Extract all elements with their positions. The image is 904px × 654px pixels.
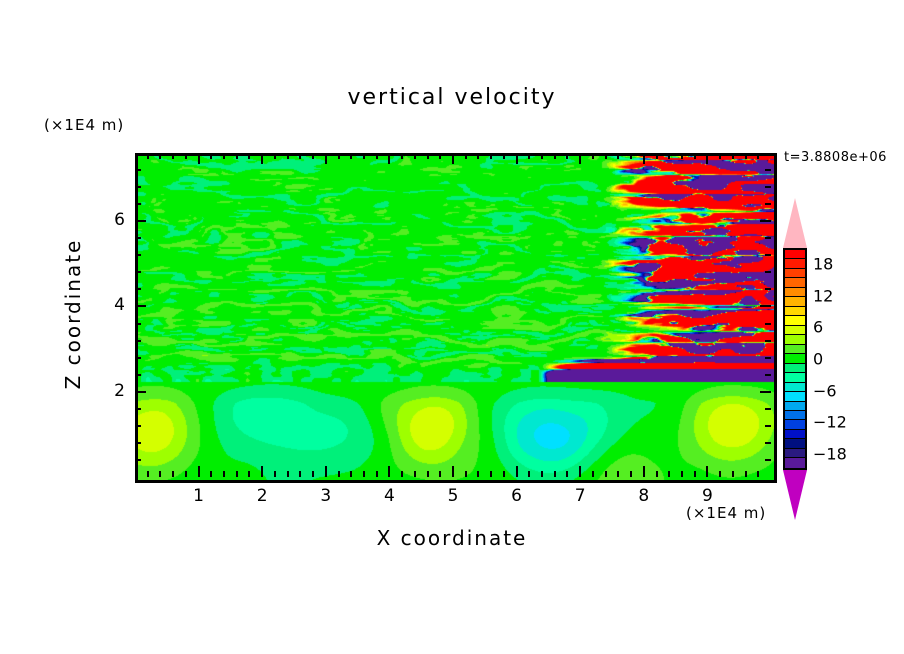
x-minor-tick-top [248, 153, 250, 159]
colorbar-band [785, 269, 805, 278]
colorbar-band [785, 345, 805, 354]
colorbar-band [785, 439, 805, 448]
x-minor-tick [757, 471, 759, 477]
x-minor-tick [147, 471, 149, 477]
x-minor-tick-top [719, 153, 721, 159]
x-minor-tick-top [376, 153, 378, 159]
x-major-tick [325, 466, 327, 477]
y-tick-label: 4 [95, 295, 125, 315]
plot-area [135, 153, 777, 483]
x-major-tick-top [325, 153, 327, 164]
x-minor-tick [159, 471, 161, 477]
colorbar-band [785, 335, 805, 344]
y-minor-tick [135, 442, 141, 444]
y-minor-tick-right [765, 425, 771, 427]
x-minor-tick-top [528, 153, 530, 159]
colorbar: 181260−6−12−18 [783, 198, 807, 520]
x-tick-label: 1 [184, 486, 214, 506]
x-minor-tick-top [656, 153, 658, 159]
x-minor-tick-top [439, 153, 441, 159]
x-minor-tick [617, 471, 619, 477]
x-tick-label: 4 [374, 486, 404, 506]
x-minor-tick [376, 471, 378, 477]
x-major-tick-top [261, 153, 263, 164]
x-minor-tick [350, 471, 352, 477]
x-minor-tick [719, 471, 721, 477]
x-minor-tick-top [541, 153, 543, 159]
x-minor-tick-top [147, 153, 149, 159]
x-minor-tick [477, 471, 479, 477]
x-minor-tick [185, 471, 187, 477]
y-minor-tick [135, 374, 141, 376]
x-minor-tick [210, 471, 212, 477]
x-major-tick-top [388, 153, 390, 164]
colorbar-tick-label: 12 [813, 286, 833, 305]
colorbar-band [785, 326, 805, 335]
x-major-tick-top [516, 153, 518, 164]
x-tick-label: 8 [629, 486, 659, 506]
x-axis-title: X coordinate [0, 526, 904, 550]
y-major-tick [135, 220, 146, 222]
x-minor-tick-top [465, 153, 467, 159]
y-minor-tick-right [765, 169, 771, 171]
x-minor-tick-top [745, 153, 747, 159]
x-minor-tick [554, 471, 556, 477]
x-minor-tick-top [172, 153, 174, 159]
colorbar-tick-label: 6 [813, 318, 823, 337]
x-minor-tick-top [668, 153, 670, 159]
x-axis-unit-label: (×1E4 m) [686, 504, 766, 522]
x-minor-tick [528, 471, 530, 477]
x-minor-tick [745, 471, 747, 477]
x-minor-tick [566, 471, 568, 477]
colorbar-band [785, 449, 805, 458]
x-major-tick [261, 466, 263, 477]
colorbar-band [785, 354, 805, 363]
x-minor-tick [681, 471, 683, 477]
y-minor-tick [135, 169, 141, 171]
colorbar-band [785, 288, 805, 297]
x-minor-tick-top [694, 153, 696, 159]
y-minor-tick-right [765, 340, 771, 342]
x-minor-tick [490, 471, 492, 477]
y-minor-tick [135, 459, 141, 461]
y-tick-label: 6 [95, 210, 125, 230]
x-tick-label: 7 [565, 486, 595, 506]
colorbar-band [785, 383, 805, 392]
colorbar-band [785, 316, 805, 325]
y-minor-tick [135, 237, 141, 239]
x-minor-tick [363, 471, 365, 477]
colorbar-band [785, 373, 805, 382]
y-axis-title: Z coordinate [61, 219, 85, 409]
y-minor-tick [135, 408, 141, 410]
x-minor-tick-top [236, 153, 238, 159]
x-minor-tick-top [223, 153, 225, 159]
contour-plot-figure: vertical velocity (×1E4 m) t=3.8808e+06 … [0, 0, 904, 654]
x-major-tick-top [643, 153, 645, 164]
x-tick-label: 3 [311, 486, 341, 506]
x-minor-tick-top [414, 153, 416, 159]
x-major-tick [198, 466, 200, 477]
x-tick-label: 6 [502, 486, 532, 506]
colorbar-band [785, 259, 805, 268]
x-minor-tick-top [503, 153, 505, 159]
y-major-tick [135, 305, 146, 307]
x-tick-label: 5 [438, 486, 468, 506]
x-minor-tick-top [338, 153, 340, 159]
x-minor-tick-top [159, 153, 161, 159]
x-minor-tick [312, 471, 314, 477]
x-minor-tick [605, 471, 607, 477]
y-minor-tick-right [765, 186, 771, 188]
x-minor-tick [172, 471, 174, 477]
y-minor-tick [135, 425, 141, 427]
x-minor-tick-top [401, 153, 403, 159]
x-minor-tick [630, 471, 632, 477]
y-minor-tick-right [765, 442, 771, 444]
x-tick-label: 2 [247, 486, 277, 506]
x-minor-tick-top [477, 153, 479, 159]
x-minor-tick [694, 471, 696, 477]
colorbar-band [785, 402, 805, 411]
colorbar-under-cap [783, 470, 807, 520]
x-minor-tick-top [554, 153, 556, 159]
y-minor-tick [135, 254, 141, 256]
y-minor-tick [135, 288, 141, 290]
y-minor-tick [135, 203, 141, 205]
x-minor-tick [338, 471, 340, 477]
x-tick-label: 9 [692, 486, 722, 506]
x-minor-tick [732, 471, 734, 477]
x-minor-tick-top [630, 153, 632, 159]
y-minor-tick-right [765, 323, 771, 325]
x-minor-tick [401, 471, 403, 477]
y-minor-tick-right [765, 237, 771, 239]
x-major-tick [579, 466, 581, 477]
colorbar-band [785, 420, 805, 429]
x-major-tick [706, 466, 708, 477]
y-minor-tick-right [765, 203, 771, 205]
x-minor-tick-top [592, 153, 594, 159]
x-minor-tick-top [566, 153, 568, 159]
colorbar-band [785, 297, 805, 306]
x-major-tick [388, 466, 390, 477]
y-minor-tick-right [765, 254, 771, 256]
x-minor-tick [503, 471, 505, 477]
x-minor-tick-top [490, 153, 492, 159]
y-minor-tick-right [765, 459, 771, 461]
x-minor-tick-top [732, 153, 734, 159]
x-minor-tick-top [757, 153, 759, 159]
colorbar-band [785, 250, 805, 259]
x-minor-tick [439, 471, 441, 477]
x-minor-tick-top [299, 153, 301, 159]
vertical-velocity-field [138, 156, 774, 480]
colorbar-tick-label: −12 [813, 413, 847, 432]
x-minor-tick [236, 471, 238, 477]
x-major-tick [516, 466, 518, 477]
y-axis-unit-label: (×1E4 m) [44, 116, 124, 134]
y-major-tick [135, 391, 146, 393]
colorbar-over-cap [783, 198, 807, 248]
colorbar-tick-label: 0 [813, 350, 823, 369]
x-minor-tick [299, 471, 301, 477]
x-minor-tick-top [312, 153, 314, 159]
y-minor-tick [135, 186, 141, 188]
colorbar-band [785, 458, 805, 467]
y-major-tick-right [760, 220, 771, 222]
x-minor-tick-top [274, 153, 276, 159]
x-minor-tick [248, 471, 250, 477]
y-minor-tick [135, 340, 141, 342]
x-minor-tick [427, 471, 429, 477]
x-major-tick-top [579, 153, 581, 164]
x-minor-tick [287, 471, 289, 477]
x-minor-tick-top [210, 153, 212, 159]
x-minor-tick [668, 471, 670, 477]
x-major-tick-top [706, 153, 708, 164]
x-minor-tick [656, 471, 658, 477]
colorbar-band [785, 392, 805, 401]
y-minor-tick-right [765, 288, 771, 290]
y-major-tick-right [760, 305, 771, 307]
x-major-tick-top [198, 153, 200, 164]
x-major-tick [452, 466, 454, 477]
colorbar-tick-label: −6 [813, 381, 837, 400]
x-minor-tick [223, 471, 225, 477]
colorbar-band [785, 307, 805, 316]
colorbar-bands [783, 248, 807, 470]
x-minor-tick-top [427, 153, 429, 159]
y-minor-tick [135, 357, 141, 359]
x-minor-tick-top [681, 153, 683, 159]
x-minor-tick-top [617, 153, 619, 159]
colorbar-band [785, 364, 805, 373]
x-major-tick [643, 466, 645, 477]
x-minor-tick [541, 471, 543, 477]
y-tick-label: 2 [95, 381, 125, 401]
x-minor-tick-top [287, 153, 289, 159]
x-minor-tick-top [363, 153, 365, 159]
y-minor-tick-right [765, 408, 771, 410]
x-minor-tick [592, 471, 594, 477]
y-minor-tick [135, 271, 141, 273]
x-minor-tick-top [185, 153, 187, 159]
colorbar-band [785, 278, 805, 287]
timestamp-annotation: t=3.8808e+06 [784, 150, 887, 165]
x-minor-tick-top [605, 153, 607, 159]
x-minor-tick [465, 471, 467, 477]
x-minor-tick [414, 471, 416, 477]
x-minor-tick [274, 471, 276, 477]
x-major-tick-top [452, 153, 454, 164]
y-minor-tick-right [765, 271, 771, 273]
colorbar-band [785, 430, 805, 439]
page-title: vertical velocity [0, 85, 904, 110]
colorbar-band [785, 411, 805, 420]
x-minor-tick-top [350, 153, 352, 159]
y-minor-tick-right [765, 357, 771, 359]
y-minor-tick [135, 323, 141, 325]
colorbar-tick-label: 18 [813, 254, 833, 273]
y-minor-tick-right [765, 374, 771, 376]
y-major-tick-right [760, 391, 771, 393]
colorbar-tick-label: −18 [813, 445, 847, 464]
